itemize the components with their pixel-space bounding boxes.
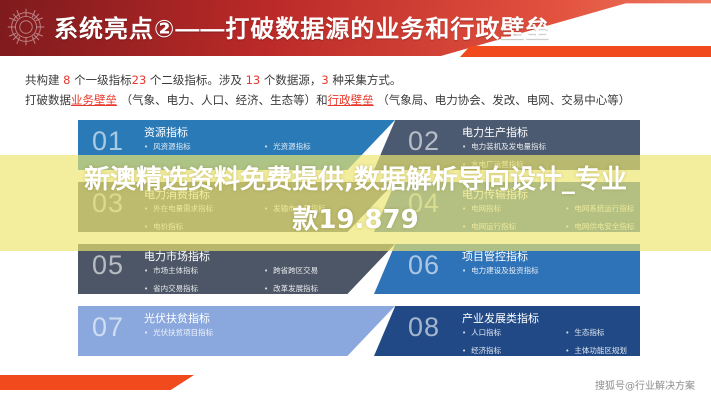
card-sub-item: 人口指标	[462, 326, 565, 340]
card-number: 05	[92, 250, 124, 281]
card-number: 02	[408, 126, 440, 157]
summary-1-part-4: 个二级指标。涉及	[146, 73, 245, 87]
page-title: 系统亮点②——打破数据源的业务和行政壁垒	[54, 9, 550, 44]
indicator-card-05[interactable]: 05电力市场指标市场主体指标跨省跨区交易省内交易指标改革发展指标	[78, 244, 395, 294]
card-sub-list: 风资源指标光资源指标	[144, 140, 394, 158]
indicator-grid: 01资源指标风资源指标光资源指标02电力生产指标电力装机及发电量指标水电厂运营指…	[78, 120, 640, 368]
card-sub-item: 电价指标	[144, 220, 264, 232]
indicator-card-03[interactable]: 03电力消费指标外在电量需求指标发输市电量指标电价指标	[78, 182, 395, 232]
card-sub-item: 省内交易指标	[144, 282, 264, 294]
card-title: 电力传输指标	[462, 186, 528, 202]
indicator-row: 01资源指标风资源指标光资源指标02电力生产指标电力装机及发电量指标水电厂运营指…	[78, 120, 640, 170]
summary-1-part-6: 个数据源，	[260, 73, 321, 87]
summary-line-2: 打破数据业务壁垒 （气象、电力、人口、经济、生态等）和行政壁垒 （气象局、电力协…	[25, 92, 630, 108]
summary-1-part-7: 3	[321, 73, 328, 87]
card-sub-list: 电力装机及发电量指标水电厂运营指标	[462, 140, 640, 170]
card-number: 04	[408, 188, 440, 219]
card-sub-item: 水电厂运营指标	[462, 158, 640, 170]
indicator-card-02[interactable]: 02电力生产指标电力装机及发电量指标水电厂运营指标	[374, 120, 640, 170]
card-sub-item: 电网指标	[462, 202, 565, 216]
card-sub-item: 经济指标	[462, 344, 565, 356]
card-title: 光伏扶贫指标	[144, 310, 210, 326]
card-sub-list: 电网指标电网系统运行指标电网运行指标电网供电安全指标	[462, 202, 640, 232]
summary-1-part-2: 个一级指标	[70, 73, 131, 87]
card-sub-item: 风资源指标	[144, 140, 264, 154]
card-title: 资源指标	[144, 124, 188, 140]
card-sub-item: 光资源指标	[264, 140, 384, 154]
source-watermark: 搜狐号@行业解决方案	[595, 377, 695, 392]
card-sub-item: 光伏扶贫项目指标	[144, 326, 374, 340]
card-sub-item: 电力建设及投资指标	[462, 264, 640, 278]
indicator-card-06[interactable]: 06项目管控指标电力建设及投资指标	[374, 244, 640, 294]
card-title: 电力市场指标	[144, 248, 210, 264]
summary-1-part-5: 13	[246, 73, 261, 87]
card-number: 07	[92, 312, 124, 343]
indicator-card-07[interactable]: 07光伏扶贫指标光伏扶贫项目指标	[78, 306, 395, 356]
card-number: 01	[92, 126, 124, 157]
summary-line-1: 共构建 8 个一级指标23 个二级指标。涉及 13 个数据源，3 种采集方式。	[25, 72, 401, 88]
card-sub-item: 电网供电安全指标	[565, 220, 640, 232]
header-accent-bar	[460, 46, 711, 57]
card-sub-list: 人口指标生态指标经济指标主体功能区规划	[462, 326, 640, 356]
card-number: 08	[408, 312, 440, 343]
card-sub-list: 市场主体指标跨省跨区交易省内交易指标改革发展指标	[144, 264, 394, 294]
summary-1-part-0: 共构建	[25, 73, 63, 87]
card-title: 项目管控指标	[462, 248, 528, 264]
summary-1-part-3: 23	[132, 73, 147, 87]
card-title: 产业发展类指标	[462, 310, 539, 326]
card-sub-item: 改革发展指标	[264, 282, 384, 294]
indicator-row: 05电力市场指标市场主体指标跨省跨区交易省内交易指标改革发展指标06项目管控指标…	[78, 244, 640, 294]
card-sub-list: 外在电量需求指标发输市电量指标电价指标	[144, 202, 394, 232]
card-number: 06	[408, 250, 440, 281]
indicator-card-04[interactable]: 04电力传输指标电网指标电网系统运行指标电网运行指标电网供电安全指标	[374, 182, 640, 232]
slide-canvas: 系统亮点②——打破数据源的业务和行政壁垒 共构建 8 个一级指标23 个二级指标…	[0, 0, 711, 400]
indicator-card-01[interactable]: 01资源指标风资源指标光资源指标	[78, 120, 395, 170]
footer-accent-bar	[0, 375, 194, 390]
card-sub-list: 电力建设及投资指标	[462, 264, 640, 282]
card-sub-item: 电网系统运行指标	[565, 202, 640, 216]
card-sub-item: 生态指标	[565, 326, 640, 340]
card-sub-item: 电力装机及发电量指标	[462, 140, 640, 154]
card-number: 03	[92, 188, 124, 219]
summary-1-part-8: 种采集方式。	[329, 73, 402, 87]
card-sub-item: 电网运行指标	[462, 220, 565, 232]
gear-emblem-icon	[2, 0, 50, 56]
card-sub-item: 跨省跨区交易	[264, 264, 384, 278]
card-title: 电力消费指标	[144, 186, 210, 202]
card-sub-list: 光伏扶贫项目指标	[144, 326, 374, 344]
summary-2-part-3: 行政壁垒	[328, 93, 374, 107]
card-sub-item: 主体功能区规划	[565, 344, 640, 356]
indicator-row: 07光伏扶贫指标光伏扶贫项目指标08产业发展类指标人口指标生态指标经济指标主体功…	[78, 306, 640, 356]
summary-2-part-1: 业务壁垒	[71, 93, 117, 107]
card-sub-item: 发输市电量指标	[264, 202, 384, 216]
card-title: 电力生产指标	[462, 124, 528, 140]
card-sub-item: 外在电量需求指标	[144, 202, 264, 216]
summary-2-part-2: （气象、电力、人口、经济、生态等）和	[117, 93, 328, 107]
indicator-row: 03电力消费指标外在电量需求指标发输市电量指标电价指标04电力传输指标电网指标电…	[78, 182, 640, 232]
summary-2-part-4: （气象局、电力协会、发改、电网、交易中心等）	[374, 93, 631, 107]
indicator-card-08[interactable]: 08产业发展类指标人口指标生态指标经济指标主体功能区规划	[374, 306, 640, 356]
summary-2-part-0: 打破数据	[25, 93, 71, 107]
card-sub-item: 市场主体指标	[144, 264, 264, 278]
